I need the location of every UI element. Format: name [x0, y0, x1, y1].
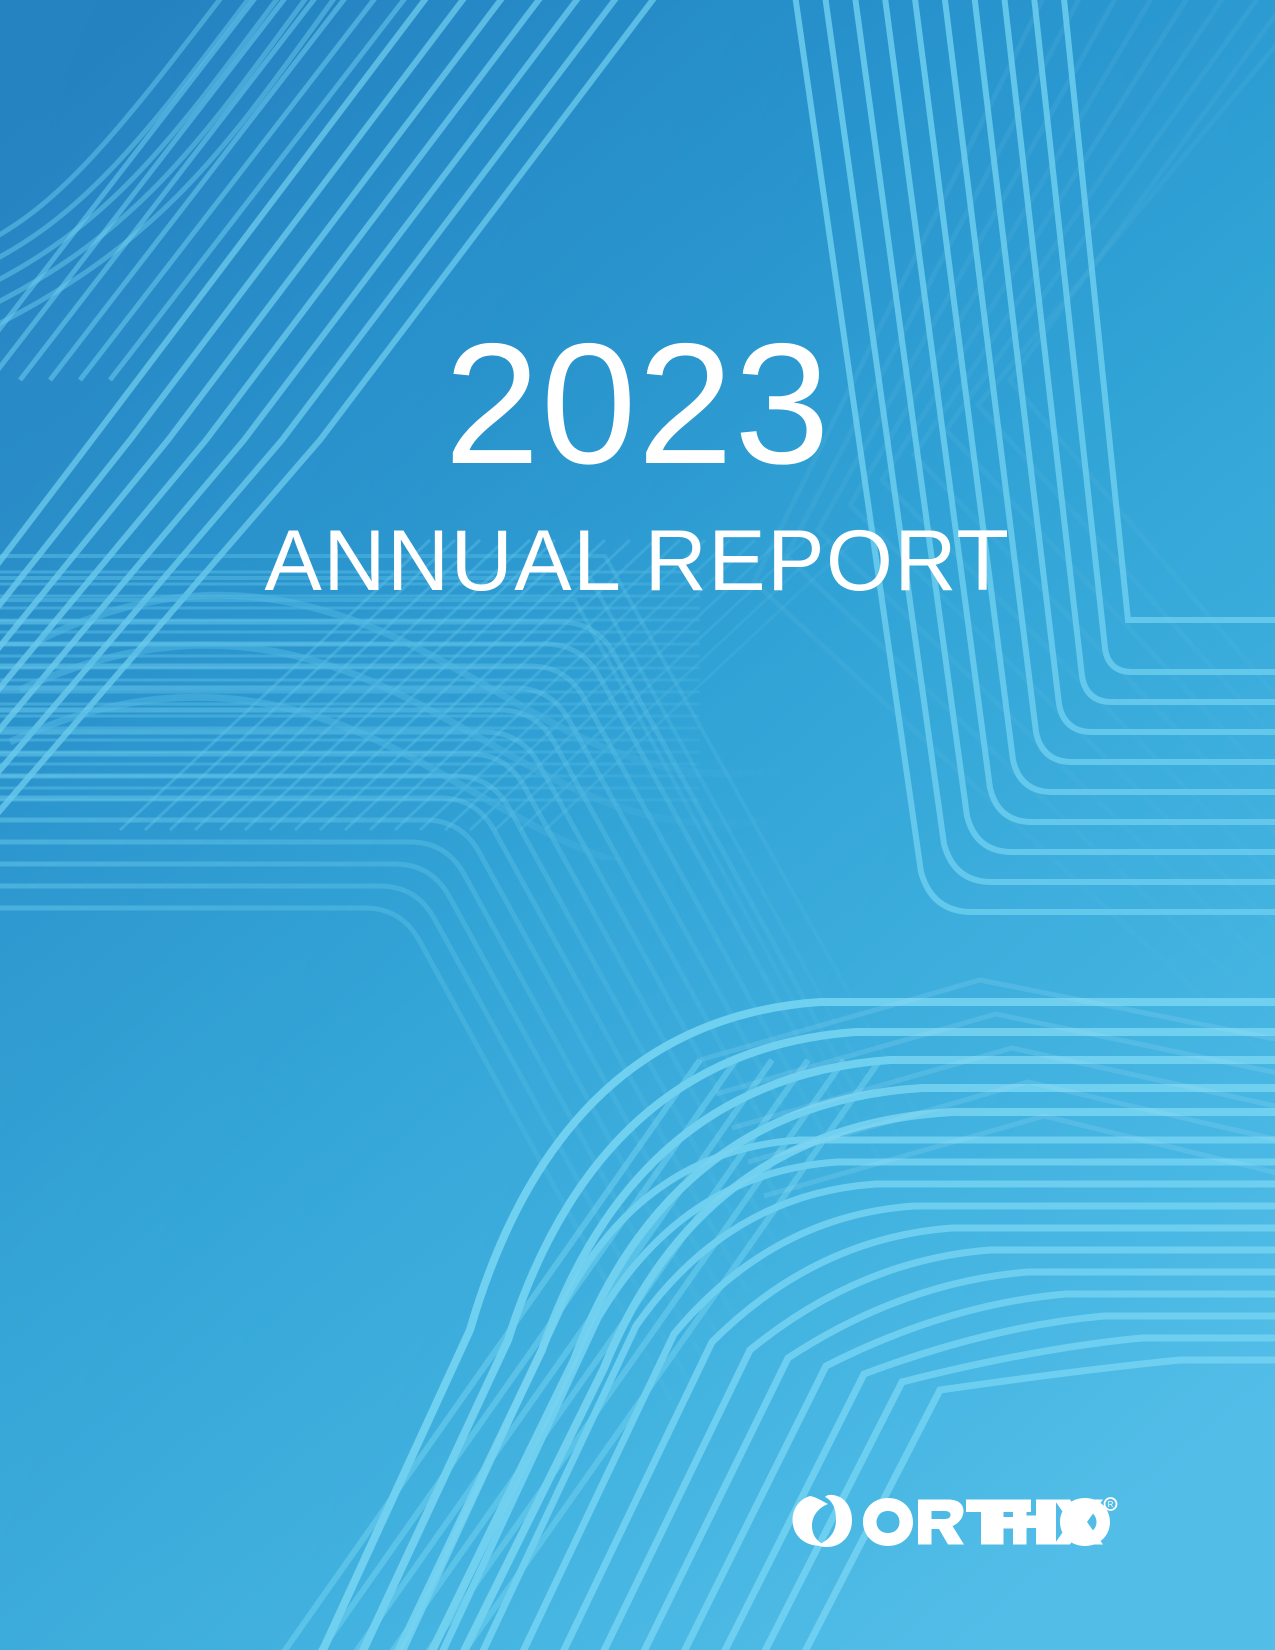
orthofix-logo-tail-svg: R	[986, 1489, 1126, 1551]
registered-trademark-icon: R	[1105, 1498, 1117, 1510]
background-pattern	[0, 0, 1275, 1650]
annual-report-cover-page: 2023 ANNUAL REPORT	[0, 0, 1275, 1650]
orthofix-logo: R	[790, 1489, 1130, 1559]
orthofix-ribbon-o-icon	[793, 1495, 852, 1547]
svg-text:R: R	[1108, 1500, 1114, 1509]
